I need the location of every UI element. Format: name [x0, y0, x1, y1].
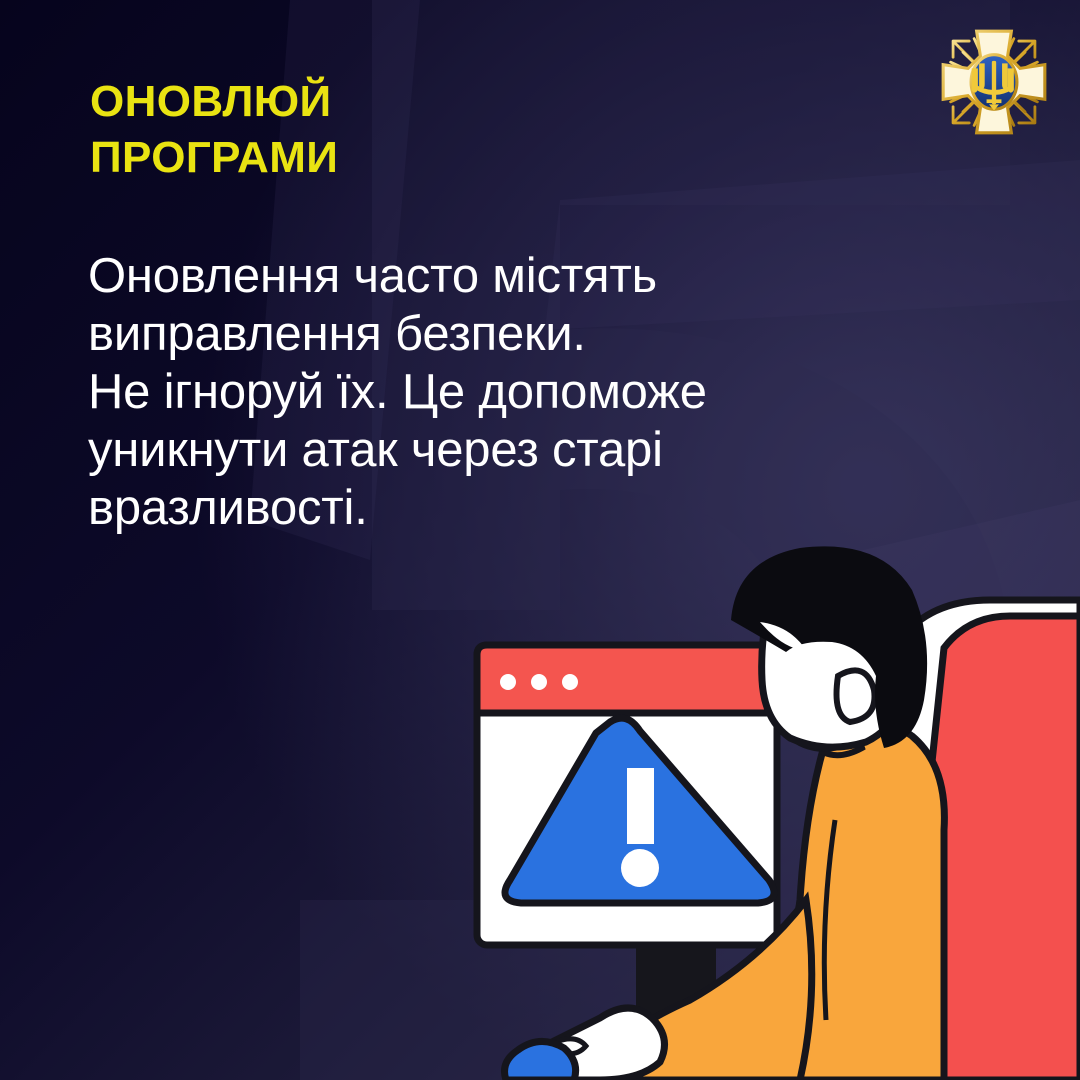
titlebar-dot: [562, 674, 578, 690]
titlebar-dot: [531, 674, 547, 690]
titlebar-dot: [500, 674, 516, 690]
person-ear: [837, 670, 875, 722]
illustration-person-at-computer: [0, 0, 1080, 1080]
poster-card: ОНОВЛЮЙ ПРОГРАМИ Оновлення часто містять…: [0, 0, 1080, 1080]
exclamation-dot: [621, 849, 659, 887]
computer-mouse: [505, 1041, 576, 1080]
illustration-svg: [0, 0, 1080, 1080]
monitor-titlebar: [477, 645, 777, 713]
exclamation-bar: [627, 768, 654, 844]
